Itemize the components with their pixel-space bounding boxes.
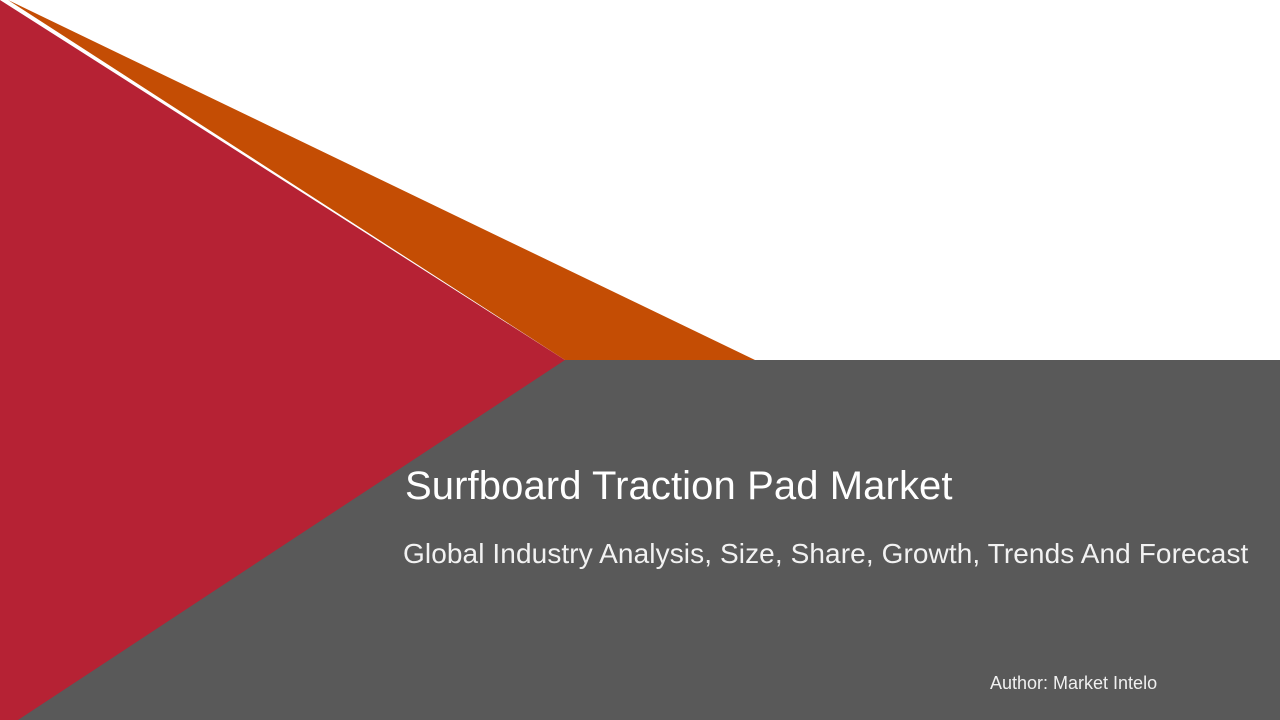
cover-decoration bbox=[0, 0, 1280, 720]
report-cover: Surfboard Traction Pad Market Global Ind… bbox=[0, 0, 1280, 720]
